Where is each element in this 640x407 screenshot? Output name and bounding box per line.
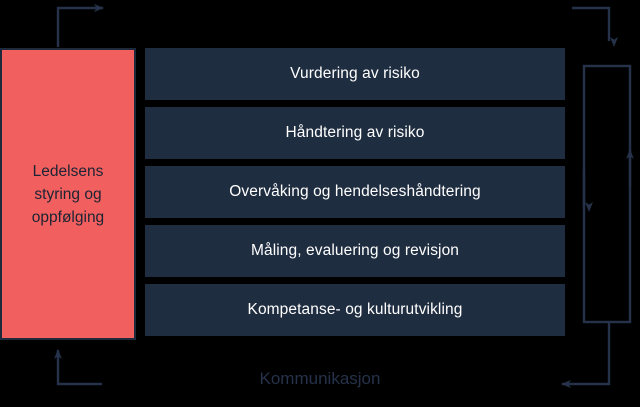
top-left-feedback-arrow xyxy=(58,8,103,47)
process-bar: Håndtering av risiko xyxy=(145,107,565,159)
process-bar-label: Kompetanse- og kulturutvikling xyxy=(248,301,463,319)
management-block-label: Ledelsens styring og oppfølging xyxy=(26,160,110,229)
right-loop-rectangle xyxy=(584,66,630,322)
process-bar-label: Vurdering av risiko xyxy=(290,65,420,83)
process-bar: Måling, evaluering og revisjon xyxy=(145,225,565,277)
arrow-down-icon xyxy=(572,8,609,41)
diagram-canvas: Ledelsens styring og oppfølging Vurderin… xyxy=(0,0,640,407)
process-bar-label: Håndtering av risiko xyxy=(286,124,425,142)
process-bar-stack: Vurdering av risiko Håndtering av risiko… xyxy=(145,48,565,336)
management-block: Ledelsens styring og oppfølging xyxy=(0,48,136,340)
process-bar: Vurdering av risiko xyxy=(145,48,565,100)
top-right-inbound-arrow xyxy=(572,8,609,41)
process-bar-label: Måling, evaluering og revisjon xyxy=(251,242,459,260)
process-bar-label: Overvåking og hendelseshåndtering xyxy=(229,183,480,201)
arrow-right-icon xyxy=(58,8,103,47)
right-loop-outline xyxy=(584,66,630,322)
communication-caption: Kommunikasjon xyxy=(0,369,640,389)
process-bar: Overvåking og hendelseshåndtering xyxy=(145,166,565,218)
process-bar: Kompetanse- og kulturutvikling xyxy=(145,284,565,336)
